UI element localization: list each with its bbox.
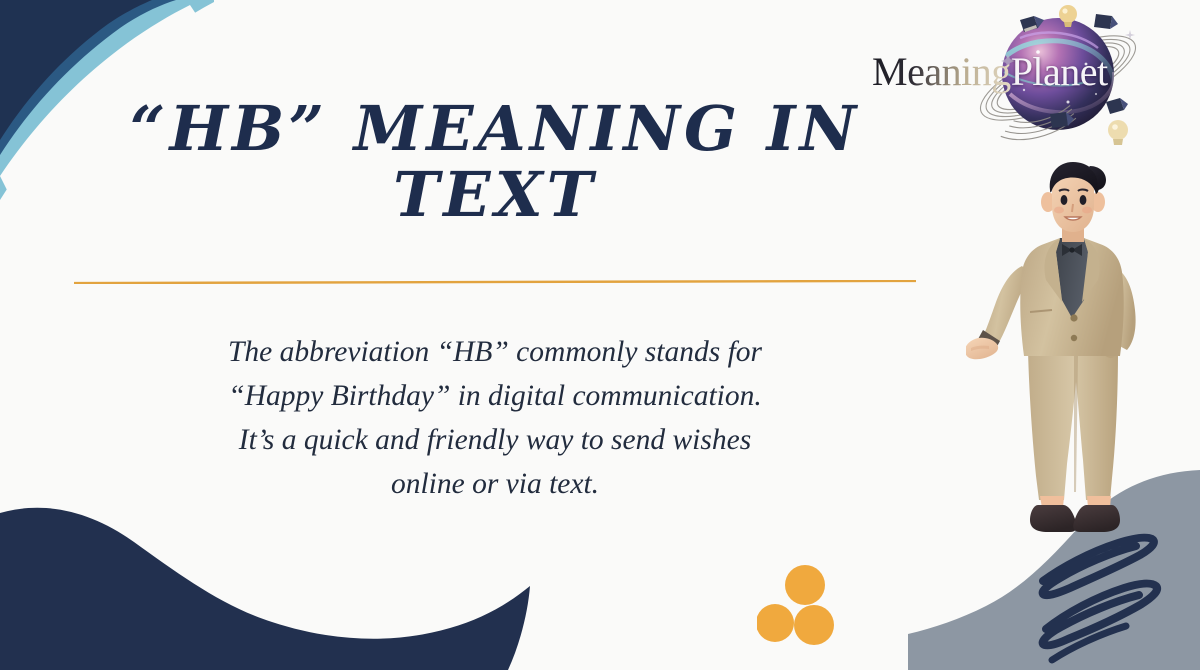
book-icon bbox=[1106, 98, 1128, 114]
gold-divider-line bbox=[74, 280, 916, 284]
book-icon bbox=[1094, 14, 1118, 29]
social-graphic-card: “HB” Meaning in Text The abbreviation “H… bbox=[0, 0, 1200, 670]
brand-logo[interactable]: MeaningPlanet bbox=[872, 2, 1172, 154]
brand-wordmark: MeaningPlanet bbox=[872, 46, 1172, 98]
character-legs bbox=[1028, 350, 1120, 532]
character-eye bbox=[1061, 195, 1068, 205]
brand-word-planet: Planet bbox=[1011, 49, 1108, 94]
orange-dot bbox=[785, 565, 825, 605]
brand-word-meaning: Meaning bbox=[872, 49, 1011, 94]
jacket-button bbox=[1071, 335, 1077, 341]
navy-blob-shape bbox=[0, 508, 530, 670]
orange-dot bbox=[757, 604, 794, 642]
orange-dot bbox=[794, 605, 834, 645]
3d-businessman-illustration bbox=[966, 160, 1180, 535]
navy-scribble-doodle bbox=[1043, 538, 1157, 660]
character-shoe bbox=[1030, 505, 1077, 532]
character-head bbox=[1041, 162, 1106, 242]
character-jacket bbox=[1020, 238, 1123, 356]
orange-dot-cluster bbox=[757, 563, 847, 647]
jacket-button bbox=[1070, 314, 1077, 321]
headline-block: “HB” Meaning in Text bbox=[60, 96, 930, 227]
page-title: “HB” Meaning in Text bbox=[60, 96, 930, 227]
lightbulb-icon bbox=[1108, 120, 1128, 145]
description-text: The abbreviation “HB” commonly stands fo… bbox=[60, 330, 930, 506]
character-shoe bbox=[1073, 505, 1120, 532]
character-eye bbox=[1080, 195, 1087, 205]
